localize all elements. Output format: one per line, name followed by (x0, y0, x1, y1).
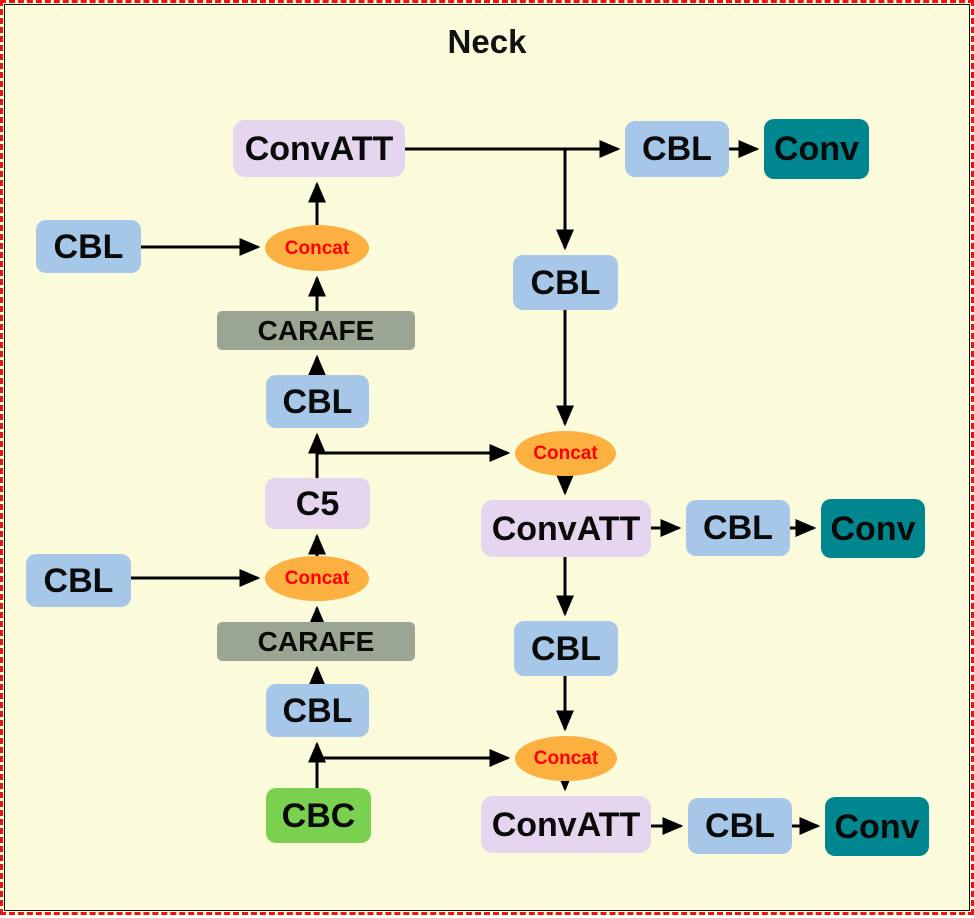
node-convatt_bot[interactable]: ConvATT (481, 796, 651, 853)
node-label: CARAFE (258, 317, 375, 345)
node-convatt_mid[interactable]: ConvATT (481, 500, 651, 557)
node-label: Conv (774, 132, 859, 166)
node-label: CBL (531, 632, 601, 666)
node-cbc[interactable]: CBC (266, 788, 371, 843)
node-cbl_mid_2[interactable]: CBL (266, 684, 369, 737)
node-label: CBL (283, 385, 353, 419)
node-label: Concat (285, 239, 349, 258)
node-cbl_left_1[interactable]: CBL (36, 220, 141, 273)
node-convatt_top[interactable]: ConvATT (233, 120, 405, 177)
edges-group (131, 149, 818, 826)
node-cbl_right_1[interactable]: CBL (513, 255, 618, 310)
node-concat_1[interactable]: Concat (265, 225, 369, 271)
node-carafe_1[interactable]: CARAFE (217, 311, 415, 350)
node-cbl_right_4[interactable]: CBL (688, 798, 792, 854)
node-label: CBL (44, 564, 114, 598)
node-label: ConvATT (492, 512, 641, 546)
node-conv_top[interactable]: Conv (764, 119, 869, 179)
diagram-canvas: Neck ConvATTCBLConvCBLConcatCBLCARAFECBL… (0, 0, 974, 915)
node-cbl_mid_1[interactable]: CBL (266, 375, 369, 428)
node-label: Concat (285, 569, 349, 588)
node-label: CBL (703, 511, 773, 545)
node-label: CBL (642, 132, 712, 166)
node-carafe_2[interactable]: CARAFE (217, 622, 415, 661)
node-conv_mid[interactable]: Conv (821, 499, 925, 558)
node-concat_4[interactable]: Concat (515, 736, 617, 781)
node-label: ConvATT (492, 808, 641, 842)
node-concat_2[interactable]: Concat (515, 431, 616, 476)
node-cbl_top_right[interactable]: CBL (625, 121, 729, 177)
node-label: C5 (296, 487, 339, 521)
node-label: CBC (282, 799, 356, 833)
node-label: Concat (533, 444, 597, 463)
node-label: CBL (54, 230, 124, 264)
node-c5[interactable]: C5 (265, 478, 370, 529)
node-conv_bot[interactable]: Conv (825, 797, 929, 856)
node-cbl_right_2[interactable]: CBL (686, 500, 790, 556)
node-cbl_left_2[interactable]: CBL (26, 554, 131, 607)
node-label: Conv (831, 512, 916, 546)
node-cbl_right_3[interactable]: CBL (514, 621, 618, 676)
node-label: CBL (283, 694, 353, 728)
node-label: ConvATT (245, 132, 394, 166)
node-concat_3[interactable]: Concat (265, 556, 369, 601)
node-label: CBL (531, 266, 601, 300)
node-label: Concat (534, 749, 598, 768)
node-label: Conv (835, 810, 920, 844)
node-label: CBL (705, 809, 775, 843)
node-label: CARAFE (258, 628, 375, 656)
